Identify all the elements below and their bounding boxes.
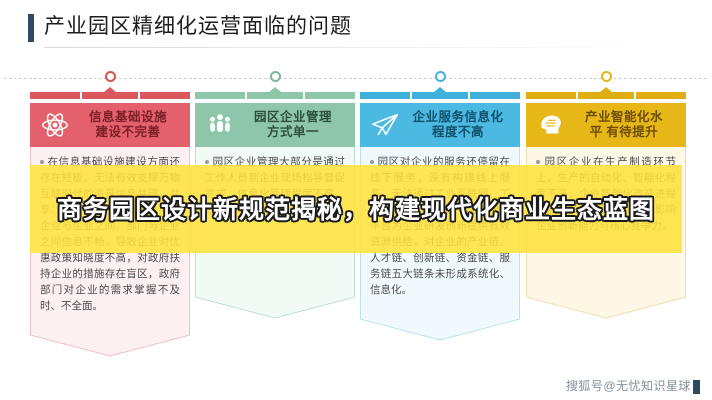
card-4-chevron-foot (526, 297, 686, 319)
ribbon-3 (360, 92, 520, 99)
card-3-chevron-foot (360, 319, 520, 341)
watermark: 搜狐号@无忧知识星球 (566, 377, 700, 394)
watermark-mark-icon (693, 380, 700, 394)
atom-icon (38, 108, 72, 142)
caption-overlay-banner: 商务园区设计新规范揭秘，构建现代化商业生态蓝图 (30, 165, 682, 253)
page-title: 产业园区精细化运营面临的问题 (44, 11, 352, 41)
card-4-header-line1: 产业智能化水 (585, 110, 663, 124)
timeline-dot-2 (270, 71, 281, 82)
card-2-header: 园区企业管理 方式单一 (195, 103, 355, 147)
bullet-icon (370, 160, 374, 164)
timeline-dot-3 (435, 71, 446, 82)
title-divider (44, 47, 664, 48)
watermark-text: 搜狐号@无忧知识星球 (566, 377, 691, 394)
bullet-icon (536, 160, 540, 164)
title-accent-bar (28, 14, 34, 42)
card-1-chevron-foot (30, 335, 190, 357)
bullet-icon (205, 160, 209, 164)
people-icon (203, 108, 237, 142)
timeline-dot-4 (601, 71, 612, 82)
ribbon-4 (526, 92, 686, 99)
card-1-header: 信息基础设施 建设不完善 (30, 103, 190, 147)
caption-overlay-text: 商务园区设计新规范揭秘，构建现代化商业生态蓝图 (46, 192, 666, 227)
card-2-chevron-foot (195, 297, 355, 319)
card-2-header-line2: 方式单一 (267, 125, 319, 139)
card-1-header-text: 信息基础设施 建设不完善 (72, 110, 184, 140)
card-2-header-line1: 园区企业管理 (254, 110, 332, 124)
page-title-block: 产业园区精细化运营面临的问题 (28, 10, 678, 52)
bullet-icon (40, 160, 44, 164)
card-3-header-line2: 程度不高 (432, 125, 484, 139)
paper-plane-icon (368, 108, 402, 142)
card-1-header-line2: 建设不完善 (95, 125, 160, 139)
ribbon-2 (195, 92, 355, 99)
timeline-dot-1 (105, 71, 116, 82)
card-4-header-line2: 平 有待提升 (590, 125, 659, 139)
card-2-header-text: 园区企业管理 方式单一 (237, 110, 349, 140)
card-4-header: 产业智能化水 平 有待提升 (526, 103, 686, 147)
brain-head-icon (534, 108, 568, 142)
ribbon-1 (30, 92, 190, 99)
card-3-header-text: 企业服务信息化 程度不高 (402, 110, 514, 140)
card-1-header-line1: 信息基础设施 (89, 110, 167, 124)
card-4-header-text: 产业智能化水 平 有待提升 (568, 110, 680, 140)
slide-canvas: 产业园区精细化运营面临的问题 (0, 0, 712, 400)
card-3-header-line1: 企业服务信息化 (412, 110, 503, 124)
card-3-header: 企业服务信息化 程度不高 (360, 103, 520, 147)
